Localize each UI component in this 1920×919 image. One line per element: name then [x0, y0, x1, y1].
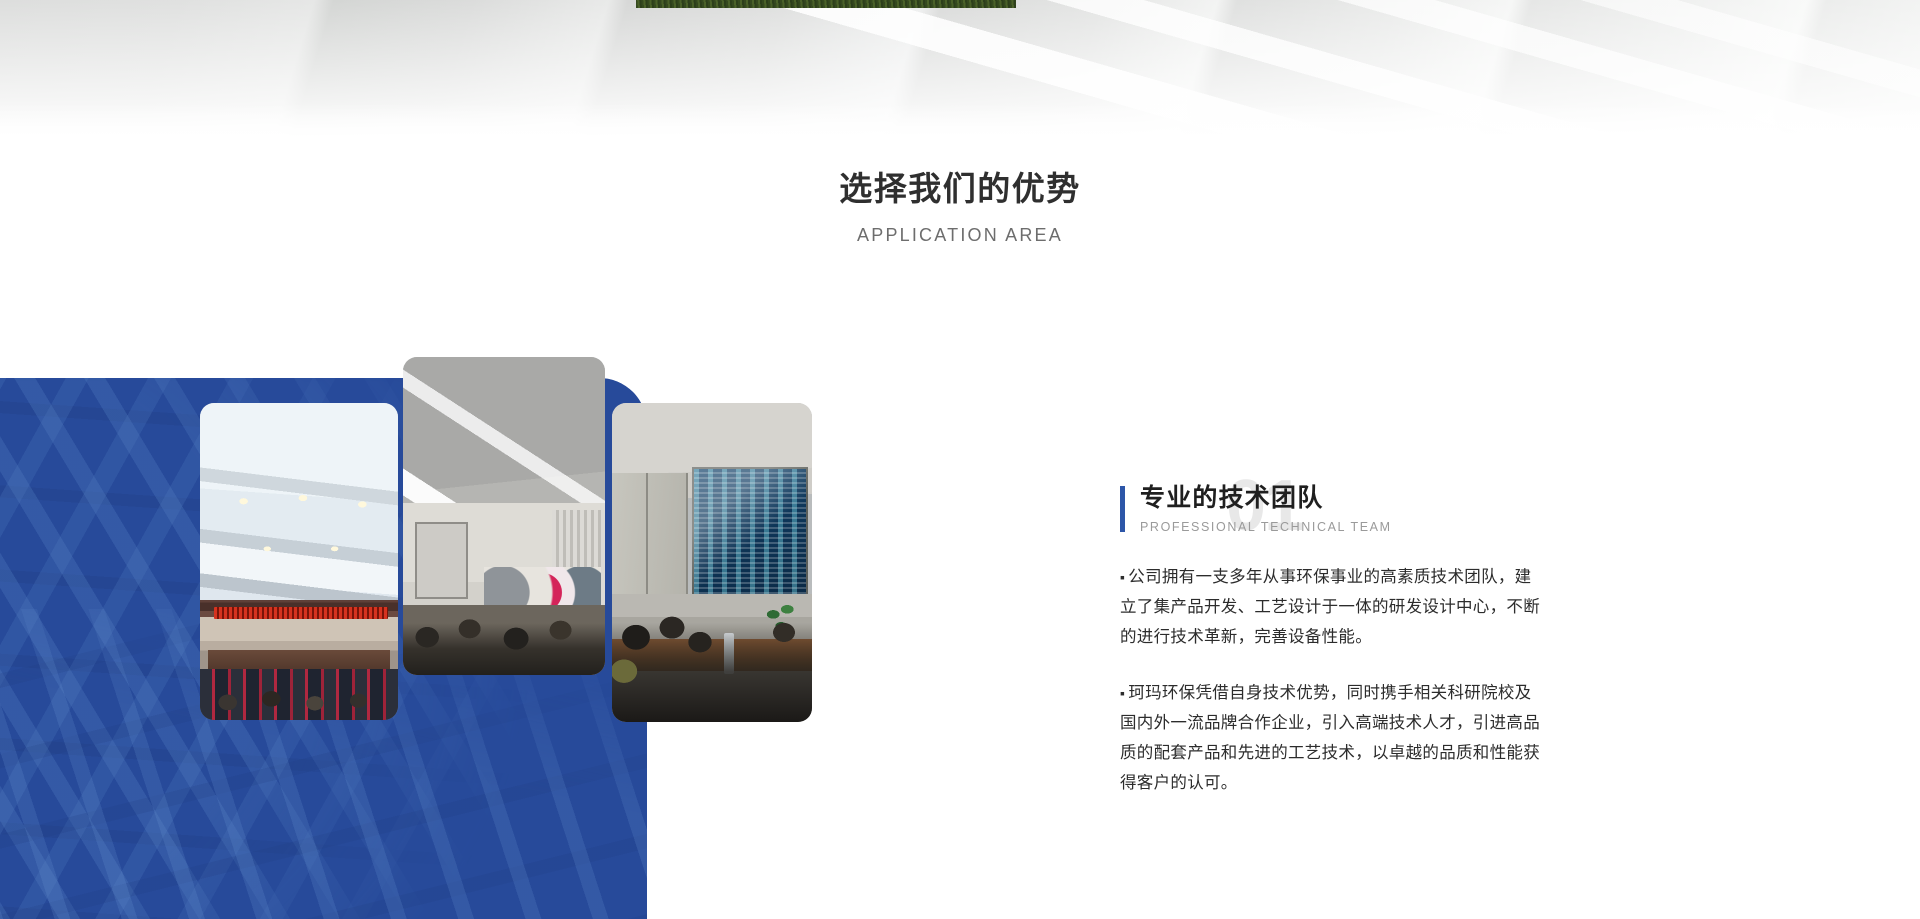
feature-heading-cn: 专业的技术团队 [1140, 482, 1323, 516]
hero-bottom-fade-band [0, 0, 1920, 145]
white-fade-overlay [0, 103, 1920, 145]
feature-content-block: 01 专业的技术团队 PROFESSIONAL TECHNICAL TEAM ▪… [1120, 482, 1680, 798]
photo3-screen-glare [692, 467, 808, 601]
bullet-icon: ▪ [1120, 685, 1125, 701]
photo1-led-banner [214, 607, 388, 618]
photo1-audience [200, 676, 398, 720]
grass-strip-image [636, 0, 1016, 8]
bullet-icon: ▪ [1120, 569, 1125, 585]
feature-paragraph-1-text: 公司拥有一支多年从事环保事业的高素质技术团队，建立了集产品开发、工艺设计于一体的… [1120, 568, 1540, 646]
photo2-attendees [403, 605, 605, 675]
photo2-whiteboard [415, 522, 468, 598]
feature-paragraph-2: ▪珂玛环保凭借自身技术优势，同时携手相关科研院校及国内外一流品牌合作企业，引入高… [1120, 678, 1548, 798]
section-title-cn: 选择我们的优势 [0, 168, 1920, 209]
photo3-attendees [612, 601, 812, 722]
section-heading: 选择我们的优势 APPLICATION AREA [0, 168, 1920, 246]
accent-bar [1120, 486, 1125, 532]
photo-classroom-meeting [403, 357, 605, 675]
feature-heading-row: 01 专业的技术团队 PROFESSIONAL TECHNICAL TEAM [1120, 482, 1680, 544]
photo-training-projector-session [612, 403, 812, 722]
section-title-en: APPLICATION AREA [0, 225, 1920, 246]
feature-paragraph-2-text: 珂玛环保凭借自身技术优势，同时携手相关科研院校及国内外一流品牌合作企业，引入高端… [1120, 684, 1540, 792]
feature-heading-en: PROFESSIONAL TECHNICAL TEAM [1140, 520, 1392, 534]
feature-paragraph-1: ▪公司拥有一支多年从事环保事业的高素质技术团队，建立了集产品开发、工艺设计于一体… [1120, 562, 1548, 652]
photo-auditorium-conference-hall [200, 403, 398, 720]
advantage-section-page: 选择我们的优势 APPLICATION AREA [0, 0, 1920, 919]
